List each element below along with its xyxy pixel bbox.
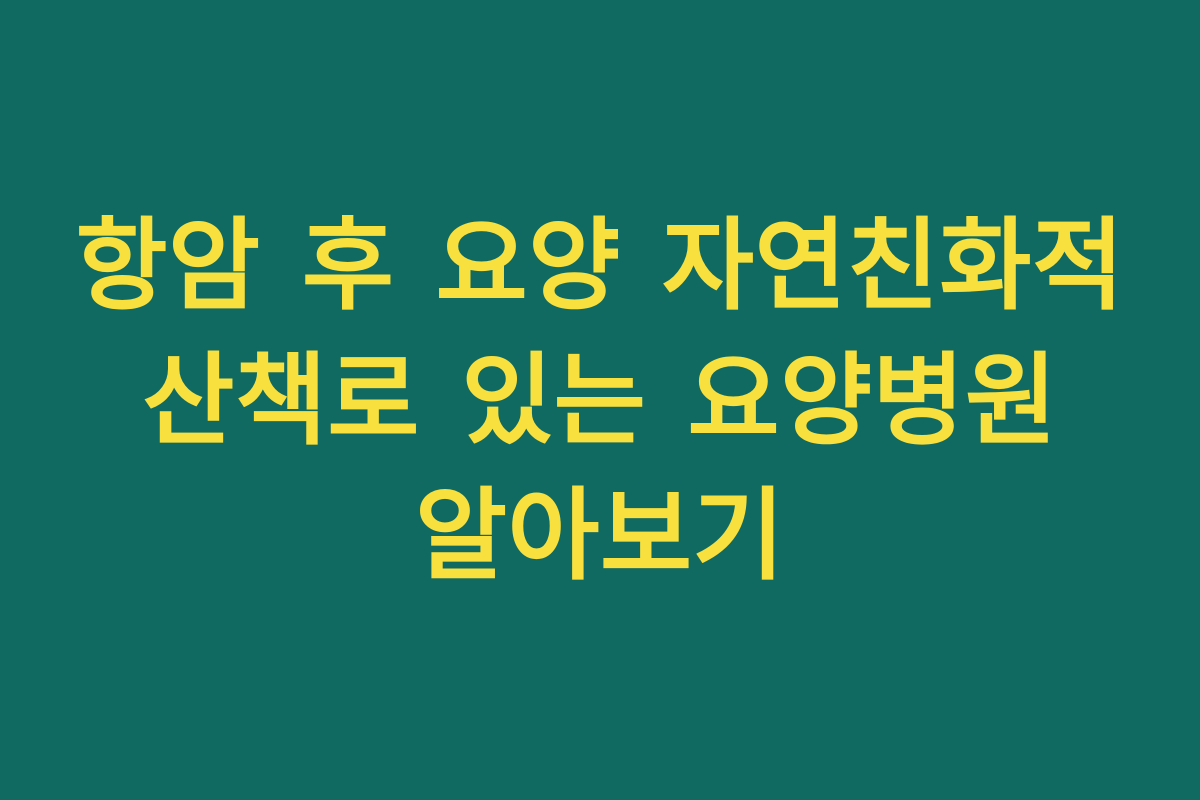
page-title: 항암 후 요양 자연친화적 산책로 있는 요양병원 알아보기 <box>0 198 1200 603</box>
headline-line-2: 산책로 있는 요양병원 <box>24 333 1176 468</box>
headline-line-1: 항암 후 요양 자연친화적 <box>24 198 1176 333</box>
banner-canvas: 항암 후 요양 자연친화적 산책로 있는 요양병원 알아보기 <box>0 0 1200 800</box>
headline-line-3: 알아보기 <box>24 468 1176 603</box>
